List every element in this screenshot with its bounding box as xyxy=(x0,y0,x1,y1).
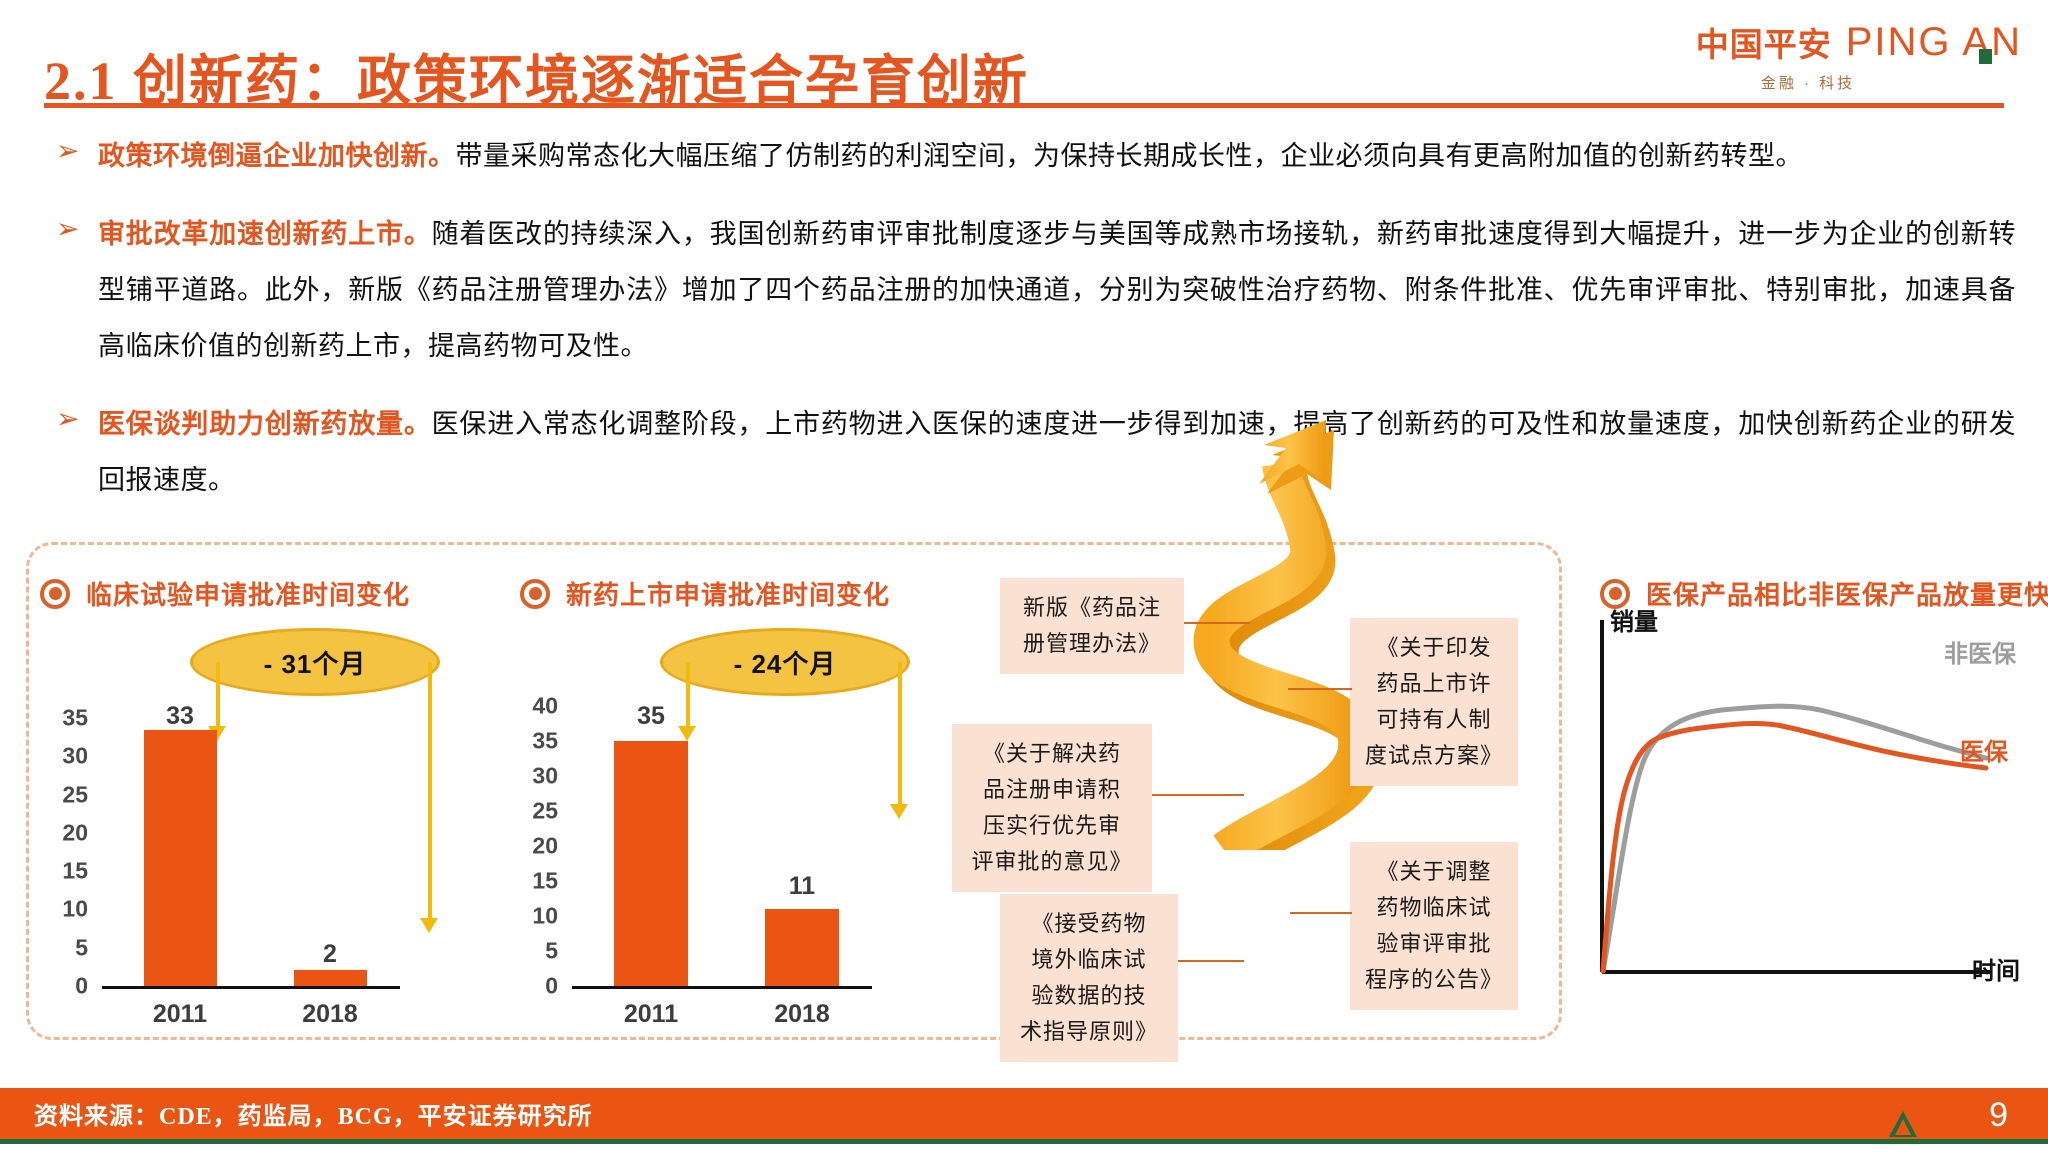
bullet-arrow-icon: ➢ xyxy=(56,128,98,174)
box-priority-review: 《关于解决药品注册申请积压实行优先审评审批的意见》 xyxy=(952,724,1152,892)
bullet-lead: 审批改革加速创新药上市。 xyxy=(98,219,432,249)
logo-chinese-name: 中国平安 xyxy=(1696,18,1832,66)
bullet-text: 医保谈判助力创新药放量。医保进入常态化调整阶段，上市药物进入医保的速度进一步得到… xyxy=(98,396,2016,508)
chart1-bar-2018 xyxy=(294,970,367,986)
chart3-legend-non-insurance: 非医保 xyxy=(1944,634,2016,669)
leader-line-3 xyxy=(1178,960,1244,962)
target-icon xyxy=(520,579,550,609)
leader-line-1 xyxy=(1184,622,1250,624)
title-divider xyxy=(44,103,2004,108)
chart1-badge-label: - 31个月 xyxy=(264,644,367,681)
box-mah-pilot-text: 《关于印发药品上市许可持有人制度试点方案》 xyxy=(1365,635,1503,768)
chart1-ytick: 0 xyxy=(75,973,88,1000)
chart3-x-axis-label: 时间 xyxy=(1972,951,2020,986)
chart2-ytick: 25 xyxy=(532,798,558,825)
chart1-ytick: 10 xyxy=(62,896,88,923)
leader-line-5 xyxy=(1290,912,1352,914)
chart2-ytick: 10 xyxy=(532,903,558,930)
chart1-heading: 临床试验申请批准时间变化 xyxy=(40,575,410,612)
chart1-badge-arrow2-icon xyxy=(420,918,438,933)
bullet-item: ➢ 审批改革加速创新药上市。随着医改的持续深入，我国创新药审评审批制度逐步与美国… xyxy=(56,206,2016,374)
chart2-ytick: 35 xyxy=(532,728,558,755)
footer-bar: 资料来源：CDE，药监局，BCG，平安证券研究所 9 xyxy=(0,1088,2048,1144)
bullet-arrow-icon: ➢ xyxy=(56,396,98,442)
target-icon xyxy=(40,579,70,609)
logo-wordmark: 中国平安 PING AN xyxy=(1622,18,2022,66)
chart2-ytick: 0 xyxy=(545,973,558,1000)
box-registration-measures-text: 新版《药品注册管理办法》 xyxy=(1023,595,1161,656)
chart2-ytick: 20 xyxy=(532,833,558,860)
chart1-ytick: 15 xyxy=(62,858,88,885)
chart2-plot: 0 5 10 15 20 25 30 35 40 35 11 2011 2018 xyxy=(510,706,880,1018)
chart1-y-axis: 0 5 10 15 20 25 30 35 xyxy=(40,718,88,986)
box-clinical-trial-process: 《关于调整药物临床试验审评审批程序的公告》 xyxy=(1350,842,1518,1010)
box-overseas-data: 《接受药物境外临床试验数据的技术指导原则》 xyxy=(1000,894,1178,1062)
box-priority-review-text: 《关于解决药品注册申请积压实行优先审评审批的意见》 xyxy=(971,741,1132,874)
chart3-plot: 销量 时间 非医保 医保 xyxy=(1582,610,2022,1000)
chart1-bar-value: 33 xyxy=(166,702,194,731)
chart2-bar-2018 xyxy=(765,909,839,986)
chart2-badge-label: - 24个月 xyxy=(734,644,837,681)
box-overseas-data-text: 《接受药物境外临床试验数据的技术指导原则》 xyxy=(1020,911,1158,1044)
logo-english-name: PING AN xyxy=(1846,20,2022,65)
chart2-ytick: 40 xyxy=(532,693,558,720)
bullet-lead: 政策环境倒逼企业加快创新。 xyxy=(98,141,456,171)
chart1-title: 临床试验申请批准时间变化 xyxy=(86,575,410,612)
chart2-badge-arrow2-icon xyxy=(890,804,908,819)
box-registration-measures: 新版《药品注册管理办法》 xyxy=(1000,578,1184,674)
chart2-badge-connector-right xyxy=(898,662,902,810)
chart2-y-axis: 0 5 10 15 20 25 30 35 40 xyxy=(510,706,558,986)
chart2-xtick: 2018 xyxy=(774,1000,830,1029)
chart3-heading: 医保产品相比非医保产品放量更快 xyxy=(1600,575,2048,612)
chart2-ytick: 5 xyxy=(545,938,558,965)
bullet-item: ➢ 医保谈判助力创新药放量。医保进入常态化调整阶段，上市药物进入医保的速度进一步… xyxy=(56,396,2016,508)
chart3-title: 医保产品相比非医保产品放量更快 xyxy=(1646,575,2048,612)
page-number: 9 xyxy=(1989,1096,2008,1135)
bullet-lead: 医保谈判助力创新药放量。 xyxy=(98,409,432,439)
logo-english-text: PING AN xyxy=(1846,20,2022,64)
slide: 中国平安 PING AN 金融 · 科技 2.1 创新药：政策环境逐渐适合孕育创… xyxy=(0,0,2048,1152)
chart1-badge: - 31个月 xyxy=(190,628,440,696)
chart1-bar-value: 2 xyxy=(323,940,337,969)
pingan-logo: 中国平安 PING AN 金融 · 科技 xyxy=(1622,18,2022,93)
chart2-heading: 新药上市申请批准时间变化 xyxy=(520,575,890,612)
bullet-text: 政策环境倒逼企业加快创新。带量采购常态化大幅压缩了仿制药的利润空间，为保持长期成… xyxy=(98,128,2016,184)
chart1-ytick: 20 xyxy=(62,819,88,846)
chart3-y-axis-label: 销量 xyxy=(1610,602,1658,637)
bullet-item: ➢ 政策环境倒逼企业加快创新。带量采购常态化大幅压缩了仿制药的利润空间，为保持长… xyxy=(56,128,2016,184)
chart2-bar-2011 xyxy=(614,741,688,986)
bullet-list: ➢ 政策环境倒逼企业加快创新。带量采购常态化大幅压缩了仿制药的利润空间，为保持长… xyxy=(56,128,2016,530)
footer-logo-icon xyxy=(1886,1109,1920,1139)
bullet-body: 带量采购常态化大幅压缩了仿制药的利润空间，为保持长期成长性，企业必须向具有更高附… xyxy=(456,141,1804,171)
chart1-bar-2011 xyxy=(144,730,217,986)
footer-source: 资料来源：CDE，药监局，BCG，平安证券研究所 xyxy=(0,1096,593,1131)
box-mah-pilot: 《关于印发药品上市许可持有人制度试点方案》 xyxy=(1350,618,1518,786)
logo-green-square-icon xyxy=(1979,49,1992,64)
bullet-arrow-icon: ➢ xyxy=(56,206,98,252)
leader-line-4 xyxy=(1288,688,1352,690)
leader-line-2 xyxy=(1152,794,1244,796)
logo-tagline: 金融 · 科技 xyxy=(1622,72,2022,93)
chart1-plot-area: 33 2 2011 2018 xyxy=(102,718,400,990)
chart2-ytick: 30 xyxy=(532,763,558,790)
chart1-plot: 0 5 10 15 20 25 30 35 33 2 2011 2018 xyxy=(40,718,400,1018)
bullet-text: 审批改革加速创新药上市。随着医改的持续深入，我国创新药审评审批制度逐步与美国等成… xyxy=(98,206,2016,374)
chart1-ytick: 25 xyxy=(62,781,88,808)
box-clinical-trial-process-text: 《关于调整药物临床试验审评审批程序的公告》 xyxy=(1365,859,1503,992)
chart3-legend-insurance: 医保 xyxy=(1960,732,2008,767)
chart2-xtick: 2011 xyxy=(624,1000,678,1029)
chart2-bar-value: 11 xyxy=(789,872,815,901)
chart1-xtick: 2011 xyxy=(153,1000,207,1029)
chart2-ytick: 15 xyxy=(532,868,558,895)
chart2-badge: - 24个月 xyxy=(660,628,910,696)
chart1-ytick: 5 xyxy=(75,934,88,961)
chart1-x-axis-line xyxy=(102,986,400,989)
chart1-ytick: 30 xyxy=(62,743,88,770)
chart2-title: 新药上市申请批准时间变化 xyxy=(566,575,890,612)
chart2-plot-area: 35 11 2011 2018 xyxy=(572,706,872,990)
chart2-bar-value: 35 xyxy=(637,702,665,731)
chart1-badge-connector-right xyxy=(428,662,432,924)
chart2-x-axis-line xyxy=(572,986,872,989)
chart1-ytick: 35 xyxy=(62,705,88,732)
chart1-xtick: 2018 xyxy=(302,1000,358,1029)
